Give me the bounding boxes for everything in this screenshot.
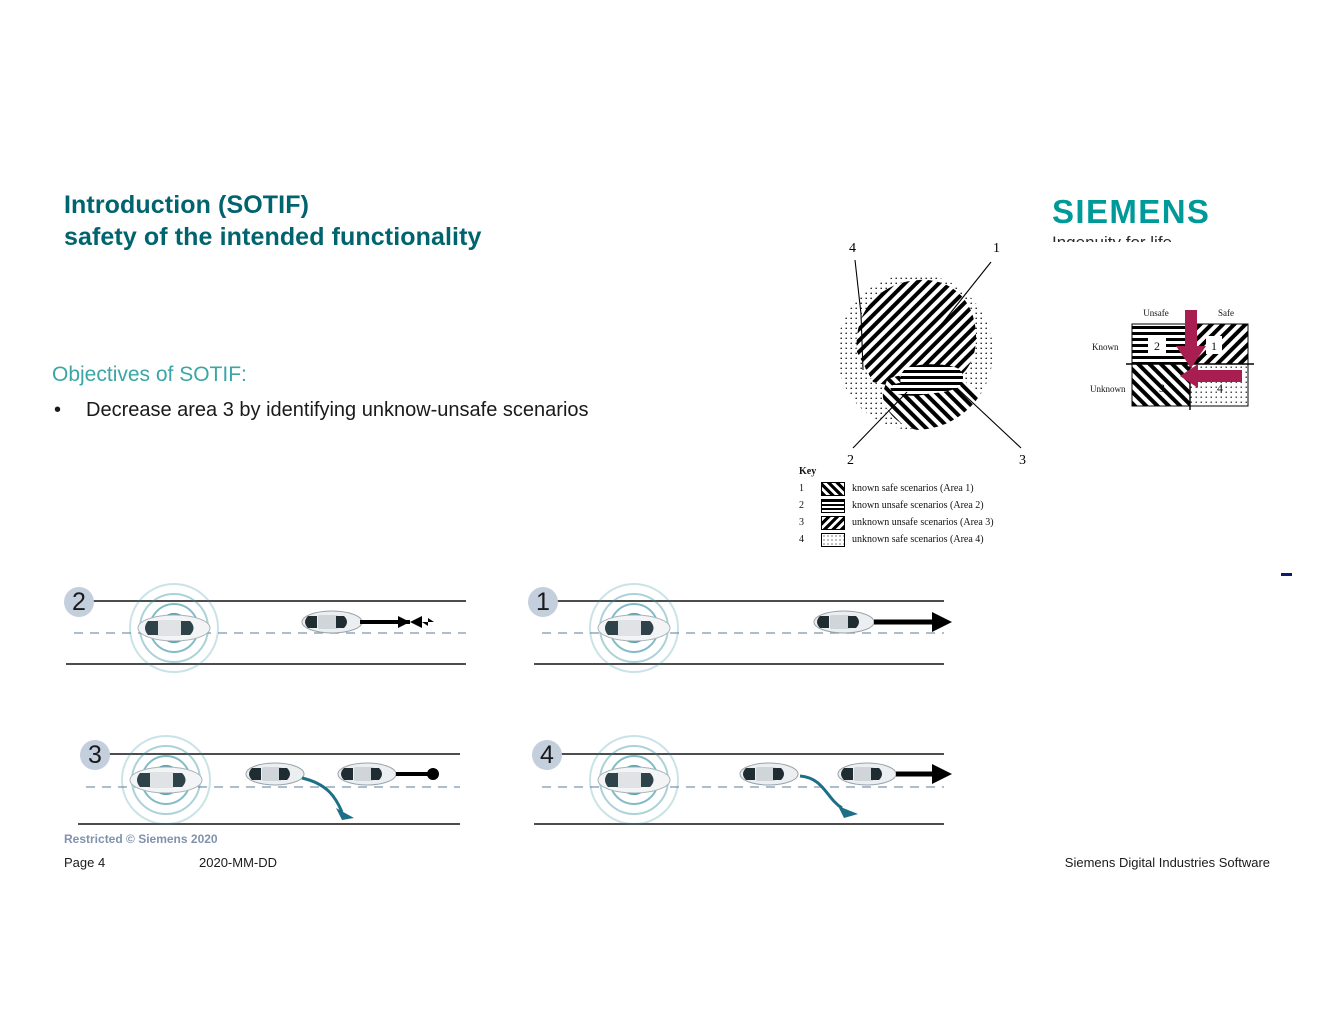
matrix-row-header-unknown: Unknown: [1090, 384, 1126, 394]
bullet-text: Decrease area 3 by identifying unknow-un…: [86, 395, 652, 426]
slide-canvas: Introduction (SOTIF) safety of the inten…: [0, 0, 1320, 1020]
key-label: unknown safe scenarios (Area 4): [852, 534, 984, 545]
forward-arrow-icon: [874, 612, 952, 632]
page-title: Introduction (SOTIF) safety of the inten…: [64, 190, 764, 253]
key-label: known safe scenarios (Area 1): [852, 483, 974, 494]
callout-label-4: 4: [849, 241, 856, 256]
key-label: unknown unsafe scenarios (Area 3): [852, 517, 994, 528]
middle-car-icon: [246, 763, 304, 785]
matrix-col-header-unsafe: Unsafe: [1143, 308, 1169, 318]
key-item-3: 3 unknown unsafe scenarios (Area 3): [799, 514, 1039, 531]
footer-page-number: Page 4: [64, 855, 105, 870]
badge-number: 4: [540, 741, 554, 769]
back-hatch-swatch-icon: [821, 516, 845, 530]
title-line-2: safety of the intended functionality: [64, 222, 764, 254]
key-number: 4: [799, 534, 821, 545]
matrix-num-2: 2: [1154, 339, 1160, 353]
scenario-badge-1: 1: [524, 583, 564, 623]
area2-striped-region-2: [891, 382, 933, 396]
footer-organization: Siemens Digital Industries Software: [1065, 855, 1270, 870]
stripe-swatch-icon: [821, 499, 845, 513]
forward-arrow-icon: [896, 764, 952, 784]
matrix-col-header-safe: Safe: [1218, 308, 1234, 318]
lane-change-arrow-icon: [302, 778, 354, 820]
siemens-logo: SIEMENS Ingenuity for life: [1052, 193, 1282, 255]
scenario-panel-2: [56, 578, 476, 678]
key-item-4: 4 unknown safe scenarios (Area 4): [799, 531, 1039, 548]
known-unknown-safety-matrix: Unsafe Safe Known Unknown 2 1 3 4: [1090, 296, 1270, 416]
key-number: 2: [799, 500, 821, 511]
matrix-row-header-known: Known: [1092, 342, 1119, 352]
key-title: Key: [799, 466, 1039, 477]
badge-number: 1: [536, 588, 550, 616]
matrix-num-3: 3: [1159, 381, 1165, 395]
lead-car-icon: [814, 611, 874, 633]
scenario-panel-3: [70, 732, 470, 837]
lead-car-icon: [302, 611, 362, 633]
lead-car-icon: [838, 763, 896, 785]
hatch-swatch-icon: [821, 482, 845, 496]
list-item: • Decrease area 3 by identifying unknow-…: [52, 395, 652, 426]
scenario-badge-3: 3: [76, 736, 116, 776]
title-line-1: Introduction (SOTIF): [64, 191, 309, 219]
badge-number: 3: [88, 741, 102, 769]
siemens-wordmark: SIEMENS: [1052, 193, 1282, 231]
key-label: known unsafe scenarios (Area 2): [852, 500, 984, 511]
ego-car-icon: [598, 767, 670, 793]
footer-restricted-notice: Restricted © Siemens 2020: [64, 832, 218, 846]
callout-label-1: 1: [993, 241, 1000, 256]
double-headed-arrow-icon: [360, 616, 434, 628]
stray-mark: [1281, 573, 1292, 576]
ball-tipped-line-icon: [396, 768, 439, 780]
ego-car-icon: [598, 615, 670, 641]
key-number: 1: [799, 483, 821, 494]
key-number: 3: [799, 517, 821, 528]
scenario-badge-4: 4: [528, 736, 568, 776]
figure-key-legend: Key 1 known safe scenarios (Area 1) 2 kn…: [799, 466, 1039, 548]
scenario-panel-4: [524, 732, 964, 837]
objectives-bullet-list: • Decrease area 3 by identifying unknow-…: [52, 395, 652, 426]
callout-line-3: [957, 388, 1021, 448]
middle-car-icon: [740, 763, 798, 785]
badge-number: 2: [72, 588, 86, 616]
scenario-badge-2: 2: [60, 583, 100, 623]
matrix-num-1: 1: [1211, 339, 1217, 353]
objectives-heading: Objectives of SOTIF:: [52, 363, 247, 387]
footer-date: 2020-MM-DD: [199, 855, 277, 870]
ego-car-icon: [138, 615, 210, 641]
siemens-tagline: Ingenuity for life: [1052, 233, 1282, 242]
key-item-1: 1 known safe scenarios (Area 1): [799, 480, 1039, 497]
scenario-panel-1: [524, 578, 964, 678]
bullet-marker: •: [52, 395, 86, 426]
sotif-area-venn-figure: 4 1 2 3: [795, 232, 1045, 472]
key-item-2: 2 known unsafe scenarios (Area 2): [799, 497, 1039, 514]
lead-car-icon: [338, 763, 396, 785]
ego-car-icon: [130, 767, 202, 793]
dotted-swatch-icon: [821, 533, 845, 547]
matrix-num-4: 4: [1217, 381, 1223, 395]
